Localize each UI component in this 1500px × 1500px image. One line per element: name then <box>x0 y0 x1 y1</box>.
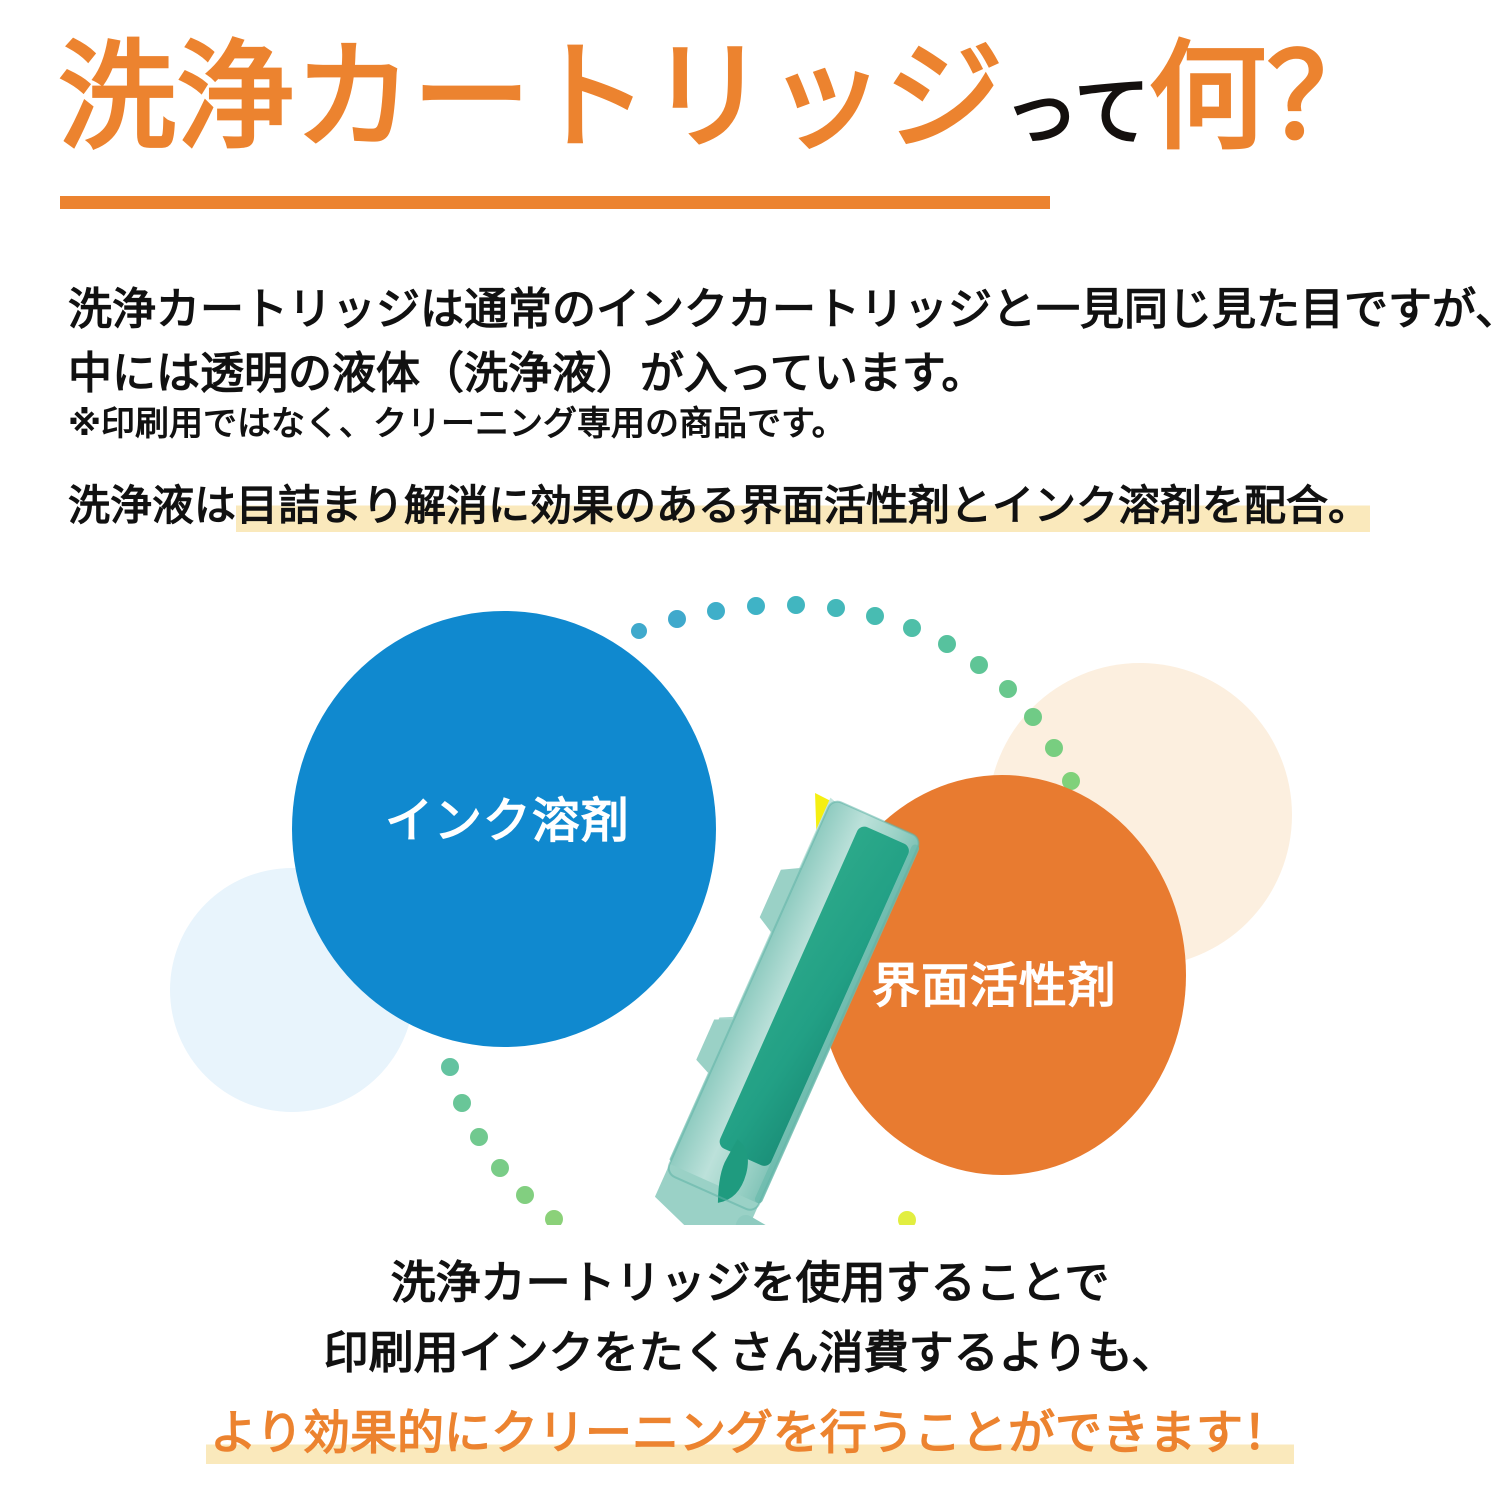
highlight-statement-prefix: 洗浄液は <box>68 481 236 530</box>
title-underline-bar <box>60 196 1050 209</box>
conclusion-block: 洗浄カートリッジを使用することで 印刷用インクをたくさん消費するよりも、 より効… <box>0 1248 1500 1472</box>
intro-line-1: 洗浄カートリッジは通常のインクカートリッジと一見同じ見た目ですが、 <box>68 278 1500 342</box>
venn-diagram <box>0 575 1500 1225</box>
page-title-tail: 何？ <box>1148 28 1384 166</box>
infographic-page: 洗浄カートリッジって何？ 洗浄カートリッジは通常のインクカートリッジと一見同じ見… <box>0 0 1500 1500</box>
page-title-particle: って <box>1003 67 1148 156</box>
conclusion-line-1: 洗浄カートリッジを使用することで <box>0 1248 1500 1318</box>
blue-circle-ink-solvent <box>292 611 716 1047</box>
conclusion-line-2: 印刷用インクをたくさん消費するよりも、 <box>0 1318 1500 1388</box>
intro-paragraph: 洗浄カートリッジは通常のインクカートリッジと一見同じ見た目ですが、 中には透明の… <box>68 278 1500 406</box>
conclusion-line-3: より効果的にクリーニングを行うことができます！ <box>0 1396 1500 1472</box>
highlight-statement-marked: 目詰まり解消に効果のある界面活性剤とインク溶剤を配合。 <box>236 481 1370 532</box>
highlight-statement: 洗浄液は目詰まり解消に効果のある界面活性剤とインク溶剤を配合。 <box>68 478 1370 534</box>
intro-line-2: 中には透明の液体（洗浄液）が入っています。 <box>68 342 1500 406</box>
page-title-main: 洗浄カートリッジ <box>58 28 1003 166</box>
page-title: 洗浄カートリッジって何？ <box>58 38 1458 218</box>
conclusion-line-3-text: より効果的にクリーニングを行うことができます！ <box>206 1406 1294 1464</box>
intro-note: ※印刷用ではなく、クリーニング専用の商品です。 <box>68 400 846 448</box>
